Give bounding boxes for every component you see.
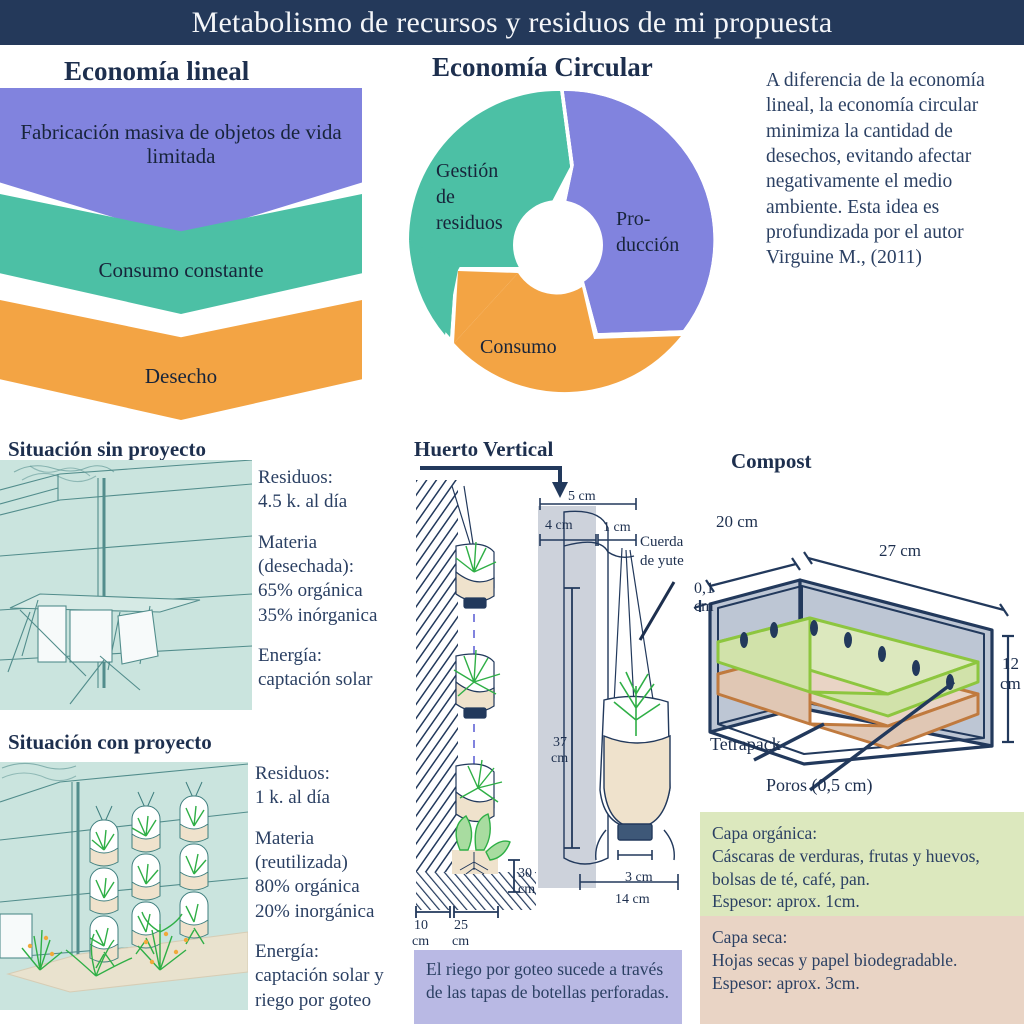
heading-economia-lineal: Economía lineal bbox=[64, 56, 249, 87]
circular-economy-paragraph: A diferencia de la economía lineal, la e… bbox=[766, 68, 998, 271]
donut-label-produccion-line2: ducción bbox=[616, 233, 679, 257]
sin-materia-label: Materia (desechada): bbox=[258, 532, 354, 577]
sin-energia-label: Energía: bbox=[258, 645, 322, 666]
cuerda-leader-line bbox=[630, 580, 680, 670]
huerto-wall-svg bbox=[416, 480, 536, 910]
heading-compost: Compost bbox=[731, 449, 812, 474]
chevron-fabricacion-label: Fabricación masiva de objetos de vida li… bbox=[0, 88, 362, 168]
page-header: Metabolismo de recursos y residuos de mi… bbox=[0, 0, 1024, 45]
dim-12cm-unit: cm bbox=[1000, 675, 1021, 694]
dim-4cm: 4 cm bbox=[545, 518, 573, 533]
label-cuerda-yute-line1: Cuerda bbox=[640, 534, 683, 551]
dim-30cm-number: 30 bbox=[518, 866, 532, 881]
dim-12cm-number: 12 bbox=[1002, 655, 1019, 674]
con-materia-inorganica: 20% inorgánica bbox=[255, 901, 374, 922]
huerto-wall-illustration bbox=[416, 480, 536, 910]
heading-huerto-vertical: Huerto Vertical bbox=[414, 437, 553, 462]
dim-30cm-unit: cm bbox=[518, 882, 535, 897]
sin-residuos-value: 4.5 k. al día bbox=[258, 491, 347, 512]
sin-residuos-label: Residuos: bbox=[258, 467, 333, 488]
dim-10cm-unit: cm bbox=[412, 934, 429, 949]
con-materia-organica: 80% orgánica bbox=[255, 876, 360, 897]
sin-materia-inorganica: 35% inórganica bbox=[258, 605, 377, 626]
text-sin-proyecto: Residuos: 4.5 k. al día Materia (desecha… bbox=[258, 466, 398, 693]
dim-27cm: 27 cm bbox=[879, 542, 921, 561]
compost-box-svg bbox=[692, 512, 1022, 812]
chevron-desecho: Desecho bbox=[0, 300, 362, 420]
con-materia-label: Materia (reutilizada) bbox=[255, 828, 348, 873]
sin-energia-value: captación solar bbox=[258, 669, 372, 690]
infographic-page: Metabolismo de recursos y residuos de mi… bbox=[0, 0, 1024, 1024]
donut-label-gestion-line3: residuos bbox=[436, 211, 503, 235]
dim-25cm-unit: cm bbox=[452, 934, 469, 949]
sketch-sin-proyecto bbox=[0, 460, 252, 710]
label-tetrapack: Tetrapack bbox=[710, 735, 781, 755]
heading-situacion-sin-proyecto: Situación sin proyecto bbox=[8, 437, 206, 462]
linear-economy-chevrons: Fabricación masiva de objetos de vida li… bbox=[0, 88, 362, 383]
poros-leader-line bbox=[810, 682, 954, 790]
con-residuos-label: Residuos: bbox=[255, 763, 330, 784]
con-energia-label: Energía: bbox=[255, 941, 319, 962]
dim-37cm-unit: cm bbox=[551, 751, 568, 766]
heading-situacion-con-proyecto: Situación con proyecto bbox=[8, 730, 212, 755]
donut-label-gestion-line1: Gestión bbox=[436, 159, 498, 183]
label-poros: Poros (0,5 cm) bbox=[766, 776, 873, 796]
dim-25cm-number: 25 bbox=[454, 918, 468, 933]
page-title: Metabolismo de recursos y residuos de mi… bbox=[192, 8, 833, 38]
legend-capa-organica: Capa orgánica: Cáscaras de verduras, fru… bbox=[700, 812, 1024, 916]
label-cuerda-yute-line2: de yute bbox=[640, 553, 684, 570]
donut-label-consumo: Consumo bbox=[480, 335, 557, 359]
con-residuos-value: 1 k. al día bbox=[255, 787, 330, 808]
dim-5cm: 5 cm bbox=[568, 489, 596, 504]
donut-center-hole bbox=[513, 200, 603, 290]
circular-economy-donut: Gestión de residuos Pro- ducción Consumo bbox=[398, 85, 718, 395]
dim-1cm: 1 cm bbox=[603, 520, 631, 535]
dim-20cm: 20 cm bbox=[716, 513, 758, 532]
dim-3cm: 3 cm bbox=[625, 870, 653, 885]
sketch-con-proyecto bbox=[0, 762, 248, 1010]
donut-label-produccion-line1: Pro- bbox=[616, 207, 650, 231]
dim-10cm-number: 10 bbox=[414, 918, 428, 933]
dim-01cm-unit: cm bbox=[694, 598, 714, 616]
dim-01cm-number: 0,1 bbox=[694, 580, 714, 598]
donut-label-gestion-line2: de bbox=[436, 185, 455, 209]
dim-14cm: 14 cm bbox=[615, 892, 650, 907]
note-riego-goteo: El riego por goteo sucede a través de la… bbox=[414, 950, 682, 1024]
con-energia-value: captación solar y riego por goteo bbox=[255, 965, 384, 1010]
text-con-proyecto: Residuos: 1 k. al día Materia (reutiliza… bbox=[255, 762, 405, 1013]
illustration-con-proyecto bbox=[0, 762, 248, 1010]
huerto-detail-gray-panel bbox=[538, 506, 596, 888]
illustration-sin-proyecto bbox=[0, 460, 252, 710]
heading-economia-circular: Economía Circular bbox=[432, 52, 653, 83]
legend-capa-seca: Capa seca: Hojas secas y papel biodegrad… bbox=[700, 916, 1024, 1024]
dim-37cm-number: 37 bbox=[553, 735, 567, 750]
sin-materia-organica: 65% orgánica bbox=[258, 580, 363, 601]
